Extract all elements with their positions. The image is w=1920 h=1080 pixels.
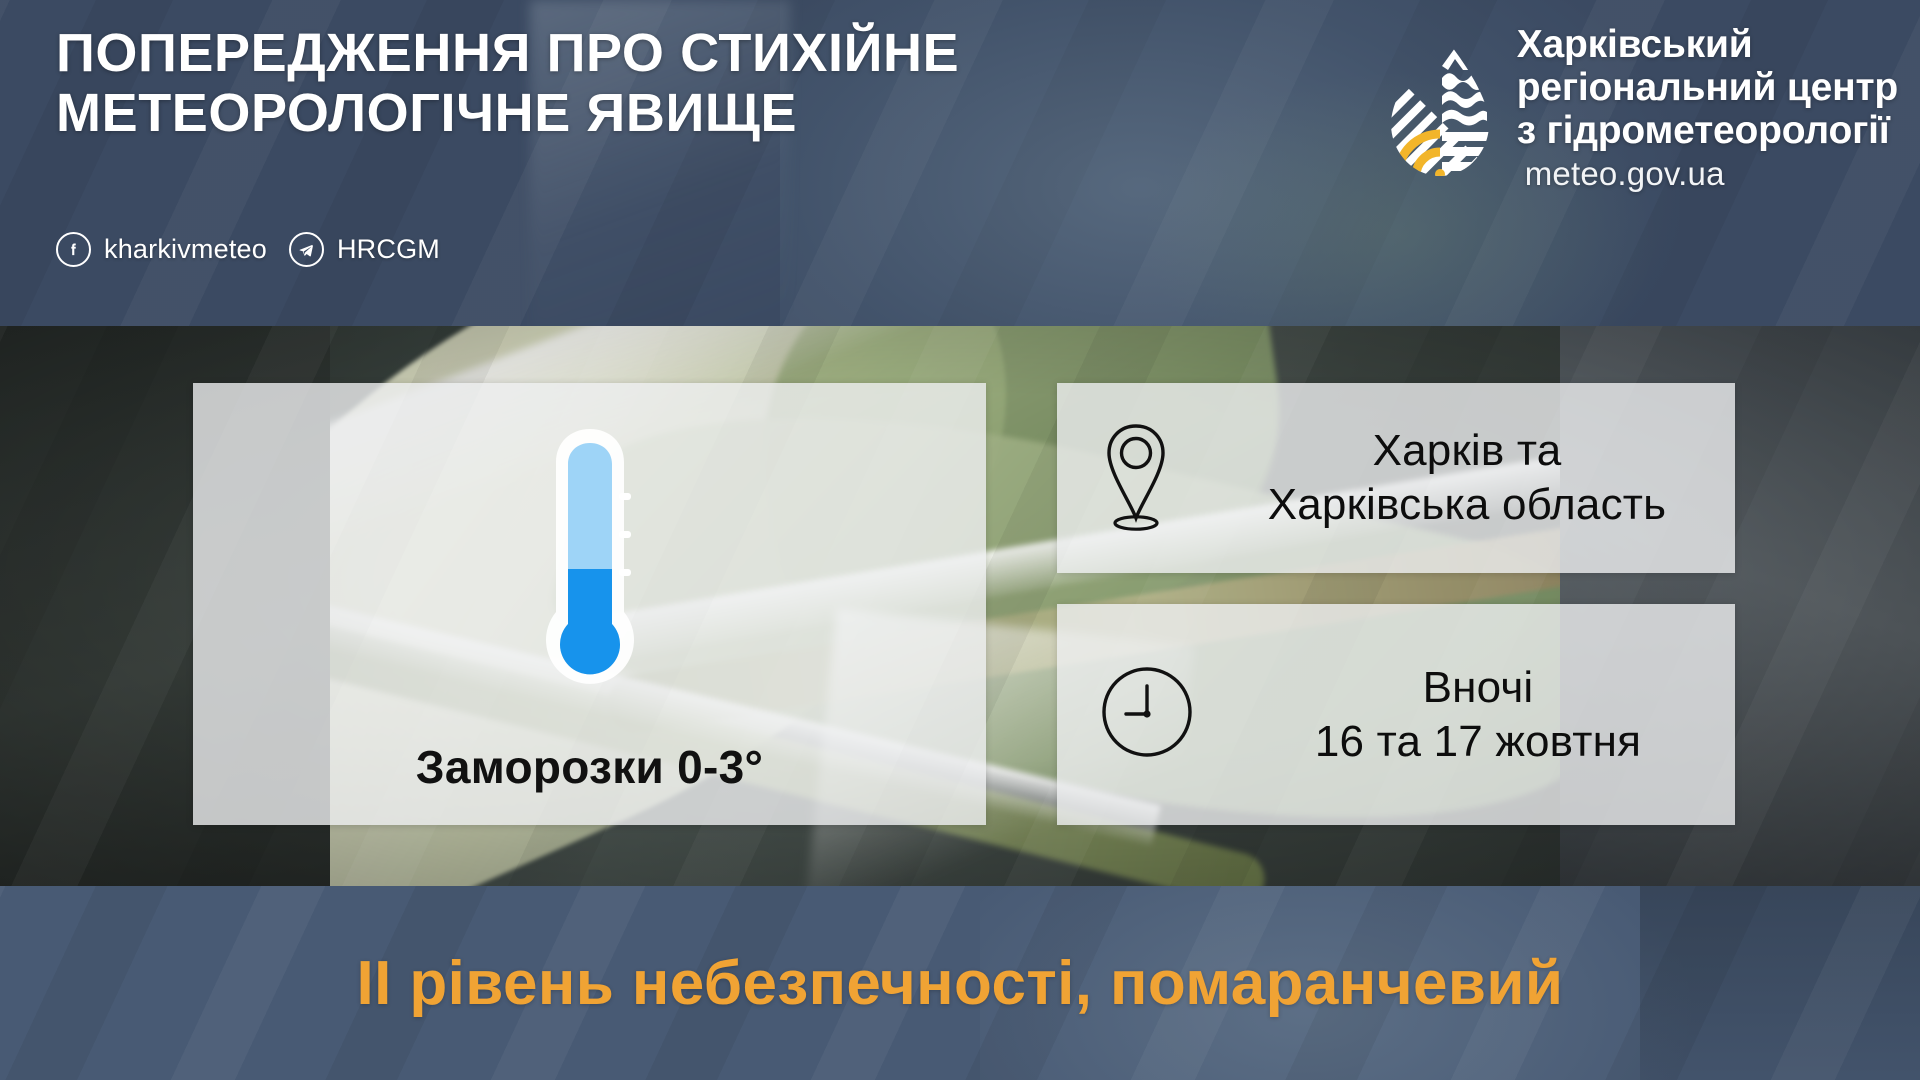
page-title-line-1: ПОПЕРЕДЖЕННЯ ПРО СТИХІЙНЕ (56, 24, 1016, 84)
social-label-facebook: kharkivmeteo (104, 234, 267, 265)
thermometer-icon (515, 419, 665, 714)
location-text: Харків та Харківська область (1199, 424, 1735, 531)
hydrometeorology-center-logo (1383, 30, 1497, 178)
organization-name: Харківський регіональний центр з гідроме… (1517, 24, 1898, 193)
time-card: Вночі 16 та 17 жовтня (1057, 604, 1735, 825)
time-text: Вночі 16 та 17 жовтня (1221, 661, 1735, 768)
social-link-facebook[interactable]: kharkivmeteo (56, 232, 267, 267)
org-name-line-2: регіональний центр (1517, 67, 1898, 110)
page-title-line-2: МЕТЕОРОЛОГІЧНЕ ЯВИЩЕ (56, 84, 1016, 144)
danger-level-text: II рівень небезпечності, помаранчевий (0, 886, 1920, 1080)
social-links: kharkivmeteo HRCGM (56, 232, 440, 267)
danger-level-banner: II рівень небезпечності, помаранчевий (0, 886, 1920, 1080)
org-name-line-1: Харківський (1517, 24, 1898, 67)
organization-logo-block[interactable]: Харківський регіональний центр з гідроме… (1383, 24, 1898, 193)
location-line-1: Харків та (1199, 424, 1735, 478)
facebook-icon (56, 232, 91, 267)
page-title: ПОПЕРЕДЖЕННЯ ПРО СТИХІЙНЕ МЕТЕОРОЛОГІЧНЕ… (56, 24, 1016, 144)
time-line-2: 16 та 17 жовтня (1221, 715, 1735, 769)
map-pin-icon (1097, 420, 1175, 537)
location-card: Харків та Харківська область (1057, 383, 1735, 573)
website-url[interactable]: meteo.gov.ua (1525, 155, 1898, 193)
org-name-line-3: з гідрометеорології (1517, 110, 1898, 153)
hazard-card: Заморозки 0-3° (193, 383, 986, 825)
clock-icon (1097, 662, 1197, 767)
weather-warning-poster: ПОПЕРЕДЖЕННЯ ПРО СТИХІЙНЕ МЕТЕОРОЛОГІЧНЕ… (0, 0, 1920, 1080)
location-line-2: Харківська область (1199, 478, 1735, 532)
telegram-icon (289, 232, 324, 267)
social-link-telegram[interactable]: HRCGM (289, 232, 440, 267)
social-label-telegram: HRCGM (337, 234, 440, 265)
time-line-1: Вночі (1221, 661, 1735, 715)
hazard-label: Заморозки 0-3° (416, 740, 764, 794)
header: ПОПЕРЕДЖЕННЯ ПРО СТИХІЙНЕ МЕТЕОРОЛОГІЧНЕ… (0, 0, 1920, 326)
